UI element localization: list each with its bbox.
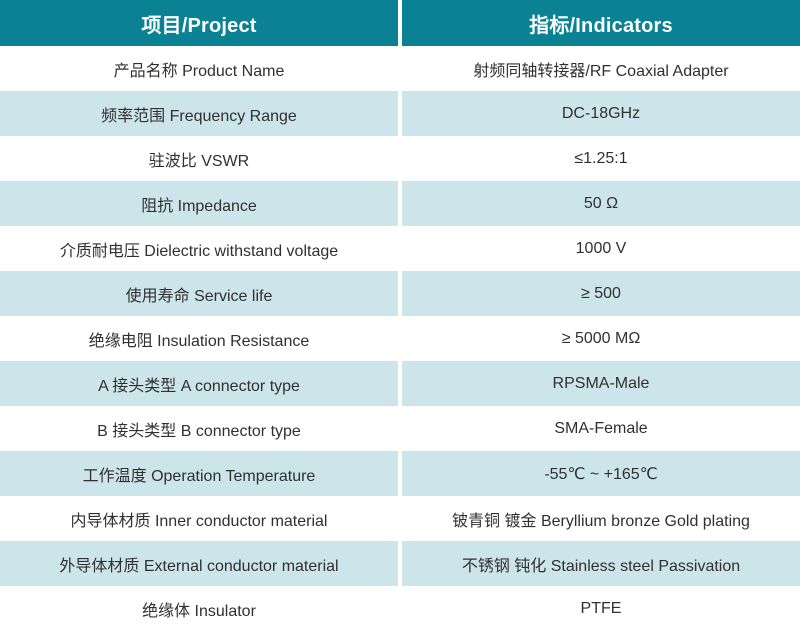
cell-project: 绝缘体 Insulator (0, 586, 398, 631)
cell-indicator: 1000 V (402, 226, 800, 271)
table-row: 绝缘电阻 Insulation Resistance≥ 5000 MΩ (0, 316, 800, 361)
cell-project: 使用寿命 Service life (0, 271, 398, 316)
cell-project: 产品名称 Product Name (0, 46, 398, 91)
table-row: 外导体材质 External conductor material不锈钢 钝化 … (0, 541, 800, 586)
cell-indicator: PTFE (402, 586, 800, 631)
column-header-project: 项目/Project (0, 0, 398, 46)
cell-project: B 接头类型 B connector type (0, 406, 398, 451)
cell-indicator: DC-18GHz (402, 91, 800, 136)
cell-project: 驻波比 VSWR (0, 136, 398, 181)
cell-indicator: 50 Ω (402, 181, 800, 226)
column-header-indicators: 指标/Indicators (402, 0, 800, 46)
table-row: 使用寿命 Service life≥ 500 (0, 271, 800, 316)
cell-indicator: SMA-Female (402, 406, 800, 451)
cell-project: 阻抗 Impedance (0, 181, 398, 226)
table-row: 产品名称 Product Name射频同轴转接器/RF Coaxial Adap… (0, 46, 800, 91)
cell-project: 介质耐电压 Dielectric withstand voltage (0, 226, 398, 271)
cell-indicator: RPSMA-Male (402, 361, 800, 406)
table-row: 介质耐电压 Dielectric withstand voltage1000 V (0, 226, 800, 271)
table-row: 驻波比 VSWR≤1.25:1 (0, 136, 800, 181)
cell-project: 外导体材质 External conductor material (0, 541, 398, 586)
table-row: 工作温度 Operation Temperature-55℃ ~ +165℃ (0, 451, 800, 496)
cell-indicator: 不锈钢 钝化 Stainless steel Passivation (402, 541, 800, 586)
table-row: B 接头类型 B connector typeSMA-Female (0, 406, 800, 451)
cell-indicator: ≤1.25:1 (402, 136, 800, 181)
cell-indicator: ≥ 5000 MΩ (402, 316, 800, 361)
table-body: 产品名称 Product Name射频同轴转接器/RF Coaxial Adap… (0, 46, 800, 631)
cell-indicator: ≥ 500 (402, 271, 800, 316)
cell-indicator: 射频同轴转接器/RF Coaxial Adapter (402, 46, 800, 91)
table-row: 内导体材质 Inner conductor material铍青铜 镀金 Ber… (0, 496, 800, 541)
specification-table: 项目/Project 指标/Indicators 产品名称 Product Na… (0, 0, 800, 631)
table-row: A 接头类型 A connector typeRPSMA-Male (0, 361, 800, 406)
cell-indicator: -55℃ ~ +165℃ (402, 451, 800, 496)
table-row: 频率范围 Frequency RangeDC-18GHz (0, 91, 800, 136)
header-row: 项目/Project 指标/Indicators (0, 0, 800, 46)
table-row: 阻抗 Impedance50 Ω (0, 181, 800, 226)
cell-project: 频率范围 Frequency Range (0, 91, 398, 136)
cell-indicator: 铍青铜 镀金 Beryllium bronze Gold plating (402, 496, 800, 541)
cell-project: 绝缘电阻 Insulation Resistance (0, 316, 398, 361)
cell-project: 工作温度 Operation Temperature (0, 451, 398, 496)
cell-project: 内导体材质 Inner conductor material (0, 496, 398, 541)
table-row: 绝缘体 InsulatorPTFE (0, 586, 800, 631)
table-header: 项目/Project 指标/Indicators (0, 0, 800, 46)
cell-project: A 接头类型 A connector type (0, 361, 398, 406)
